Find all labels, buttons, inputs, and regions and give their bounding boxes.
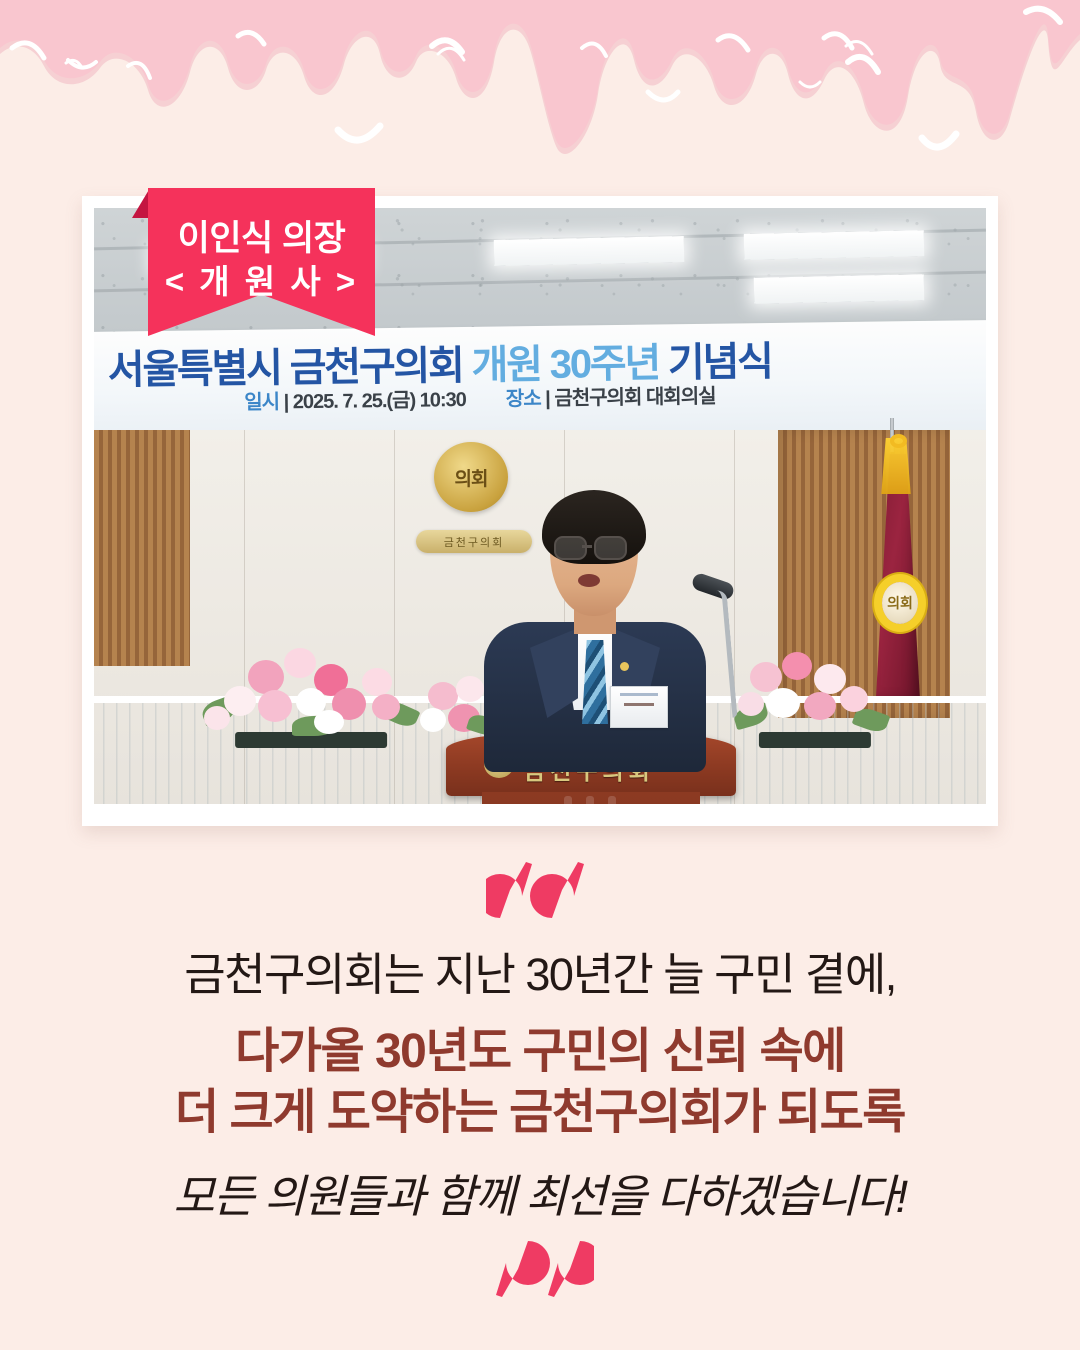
back-wall: 의회 금천구의회 의회 <box>94 430 986 804</box>
quote-open-icon <box>486 860 594 922</box>
flower <box>248 660 284 694</box>
flower <box>204 706 230 730</box>
flower <box>804 692 836 720</box>
podium-groove <box>564 796 572 804</box>
banner-subtitle: 일시 | 2025. 7. 25.(금) 10:30장소 | 금천구의회 대회의… <box>244 380 716 415</box>
podium-body <box>482 792 700 804</box>
flower <box>420 708 446 732</box>
banner-title-part3: 기념식 <box>668 340 772 385</box>
quote-line-2: 다가올 30년도 구민의 신뢰 속에 <box>0 1021 1080 1082</box>
flower <box>840 686 868 712</box>
ceiling-light <box>494 236 685 266</box>
flower <box>314 710 344 734</box>
flower <box>372 694 400 720</box>
flower <box>258 690 292 722</box>
banner-sep2: | <box>545 388 550 410</box>
eyeglass-right <box>594 536 627 560</box>
quote-block: 금천구의회는 지난 30년간 늘 구민 곁에, 다가올 30년도 구민의 신뢰 … <box>0 860 1080 1299</box>
name-tag <box>610 686 668 728</box>
flower <box>782 652 812 680</box>
banner-place-label: 장소 <box>506 388 541 410</box>
ribbon-line-2: < 개 원 사 > <box>148 255 375 303</box>
podium-groove <box>608 796 616 804</box>
flower <box>224 686 256 716</box>
flower-vase <box>759 732 871 748</box>
ceiling-light <box>744 230 925 260</box>
event-banner: 서울특별시 금천구의회 개원 30주년 기념식 일시 | 2025. 7. 25… <box>94 320 986 444</box>
drip-wave-svg <box>0 0 1080 165</box>
flower-arrangement-left <box>196 638 426 748</box>
podium-groove <box>586 796 594 804</box>
banner-place-value: 금천구의회 대회의실 <box>554 386 715 410</box>
speaker-person <box>470 490 720 770</box>
speaker-ribbon-banner: 이인식 의장 < 개 원 사 > <box>148 188 375 336</box>
drip-main-path <box>0 0 1080 148</box>
eyeglass-bridge <box>582 545 592 548</box>
mouth <box>578 574 600 587</box>
flower <box>814 664 846 694</box>
flower <box>284 648 316 678</box>
quote-close-icon <box>486 1237 594 1299</box>
eyeglass-left <box>554 536 587 560</box>
lapel-pin <box>620 662 629 671</box>
wood-panel-left <box>94 430 190 666</box>
flower <box>362 668 392 696</box>
banner-date-label: 일시 <box>244 391 279 413</box>
card-root: 서울특별시 금천구의회 개원 30주년 기념식 일시 | 2025. 7. 25… <box>0 0 1080 1350</box>
ceiling-light <box>754 274 925 304</box>
quote-line-1: 금천구의회는 지난 30년간 늘 구민 곁에, <box>0 938 1080 1003</box>
quote-line-3: 더 크게 도약하는 금천구의회가 되도록 <box>0 1082 1080 1143</box>
banner-sep: | <box>283 391 288 413</box>
ribbon-line-1: 이인식 의장 <box>148 210 375 261</box>
flag-knot <box>890 434 907 448</box>
banner-date-value: 2025. 7. 25.(금) 10:30 <box>293 389 466 413</box>
flag-emblem: 의회 <box>882 582 918 624</box>
drip-decoration <box>0 0 1080 165</box>
quote-line-4: 모든 의원들과 함께 최선을 다하겠습니다! <box>0 1160 1080 1225</box>
flower <box>766 688 800 718</box>
